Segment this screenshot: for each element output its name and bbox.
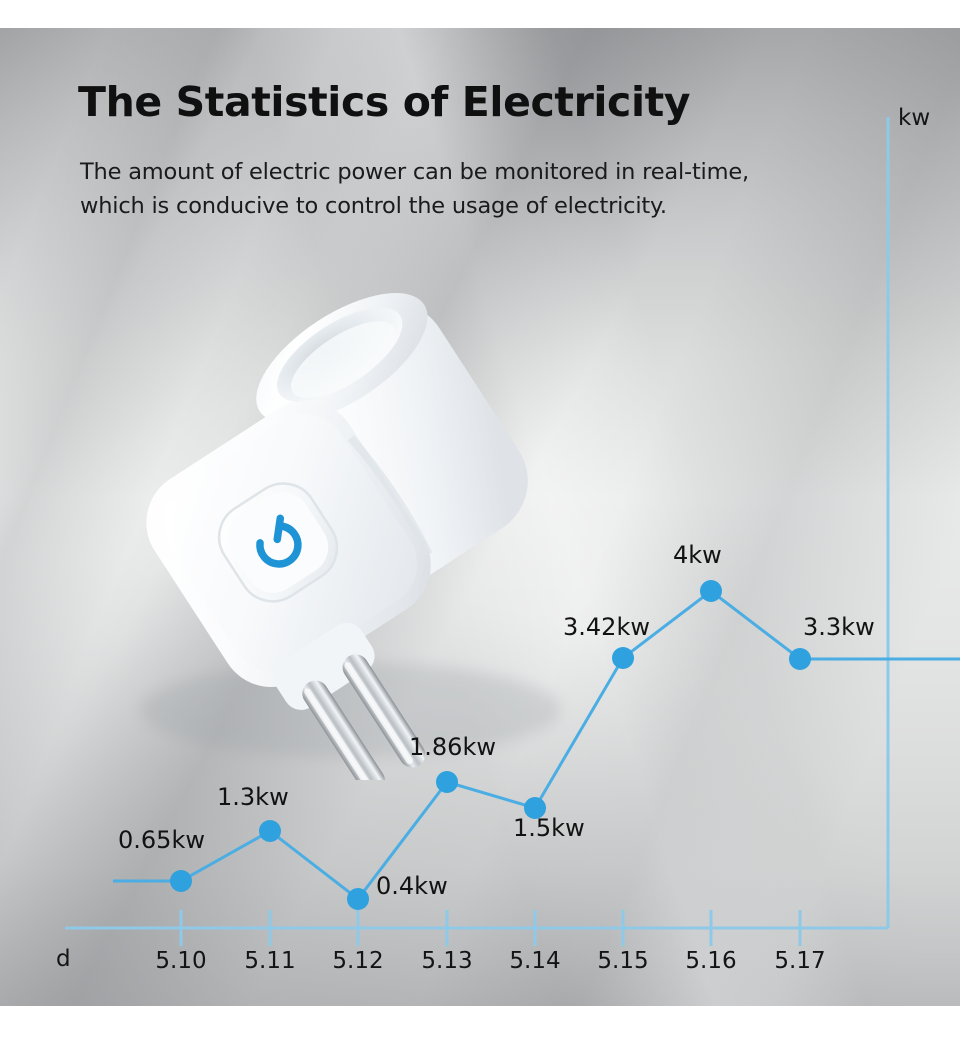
x-tick-label-0: 5.10 xyxy=(155,948,206,974)
value-label-5-17: 3.3kw xyxy=(803,613,875,641)
x-tick-label-5: 5.15 xyxy=(597,948,648,974)
electricity-line-chart: kw d 5.10 5.11 5.12 5.13 5.14 5.15 5.16 … xyxy=(0,0,960,1062)
value-label-5-10: 0.65kw xyxy=(118,826,205,854)
x-tick-label-6: 5.16 xyxy=(685,948,736,974)
x-tick-label-7: 5.17 xyxy=(774,948,825,974)
x-tick-label-4: 5.14 xyxy=(509,948,560,974)
product-infographic: The Statistics of Electricity The amount… xyxy=(0,0,960,1062)
value-label-5-14: 1.5kw xyxy=(513,814,585,842)
data-point-5-12[interactable] xyxy=(347,888,369,910)
value-label-5-13: 1.86kw xyxy=(409,733,496,761)
value-label-5-15: 3.42kw xyxy=(563,613,650,641)
data-point-5-11[interactable] xyxy=(259,820,281,842)
x-tick-label-2: 5.12 xyxy=(332,948,383,974)
value-label-5-16: 4kw xyxy=(673,541,722,569)
data-point-5-17[interactable] xyxy=(789,648,811,670)
chart-axes xyxy=(65,117,888,928)
data-point-5-15[interactable] xyxy=(612,647,634,669)
y-axis-label: kw xyxy=(898,105,930,131)
x-tick-label-1: 5.11 xyxy=(244,948,295,974)
value-label-5-11: 1.3kw xyxy=(217,783,289,811)
x-axis-label: d xyxy=(56,946,71,972)
data-point-5-16[interactable] xyxy=(700,580,722,602)
value-label-5-12: 0.4kw xyxy=(376,872,448,900)
data-point-5-13[interactable] xyxy=(436,771,458,793)
chart-canvas xyxy=(0,0,960,1062)
x-tick-label-3: 5.13 xyxy=(421,948,472,974)
data-point-5-10[interactable] xyxy=(170,870,192,892)
